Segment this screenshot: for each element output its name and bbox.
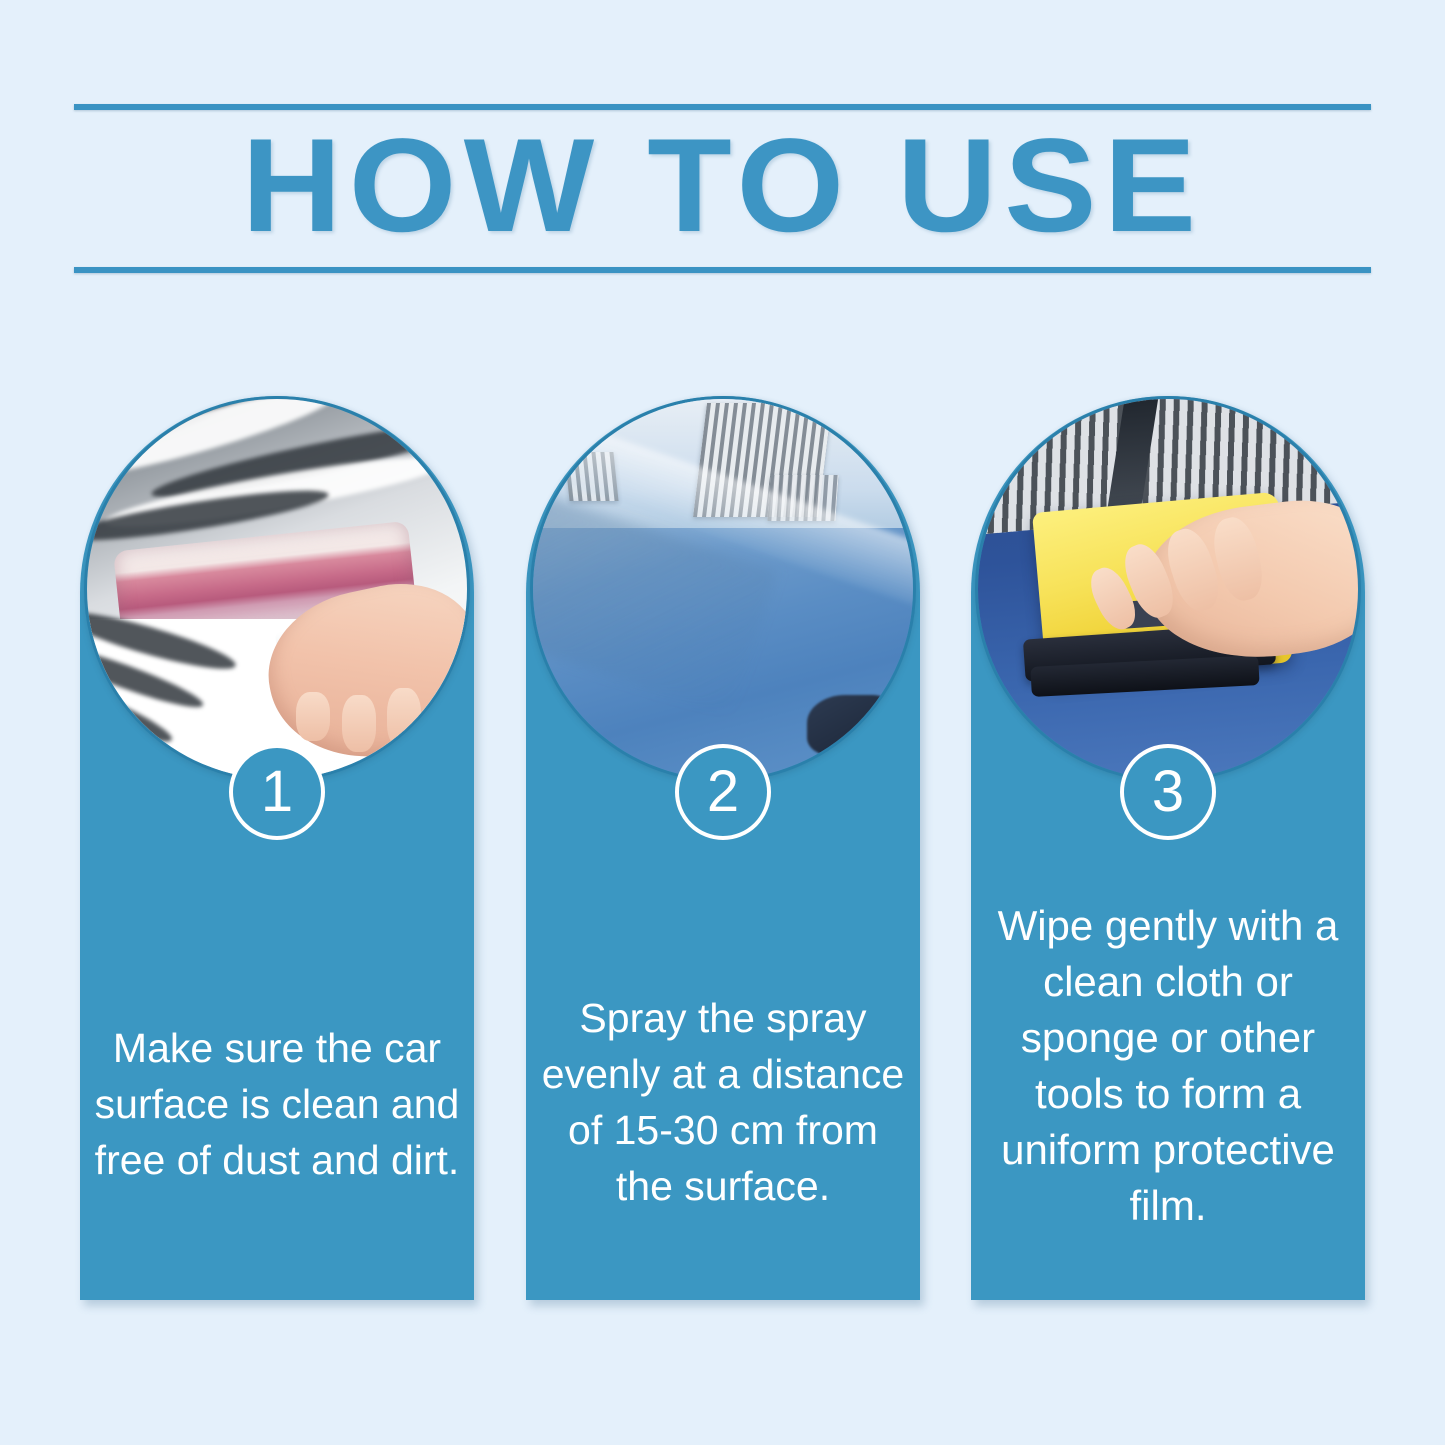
soapy-car-wash-image [87,399,467,779]
step-2-number-badge: 2 [675,744,771,840]
step-3-number-badge: 3 [1120,744,1216,840]
header-rule-bottom [74,267,1371,273]
step-card-3: 3 Wipe gently with a clean cloth or spon… [971,396,1365,1300]
step-3-caption: Wipe gently with a clean cloth or sponge… [985,898,1351,1234]
wiping-with-towel-image [978,399,1358,779]
step-card-2: 2 Spray the spray evenly at a distance o… [526,396,920,1300]
step-3-photo [975,396,1361,782]
step-1-photo [84,396,470,782]
step-1-number-badge: 1 [229,744,325,840]
glossy-car-surface-image [533,399,913,779]
dark-object [807,695,891,756]
step-2-caption: Spray the spray evenly at a distance of … [540,990,906,1214]
page-header: HOW TO USE [74,104,1371,274]
step-2-photo [530,396,916,782]
steps-container: 1 Make sure the car surface is clean and… [0,396,1445,1306]
step-1-caption: Make sure the car surface is clean and f… [94,1020,460,1188]
step-card-1: 1 Make sure the car surface is clean and… [80,396,474,1300]
page-title: HOW TO USE [48,110,1397,267]
